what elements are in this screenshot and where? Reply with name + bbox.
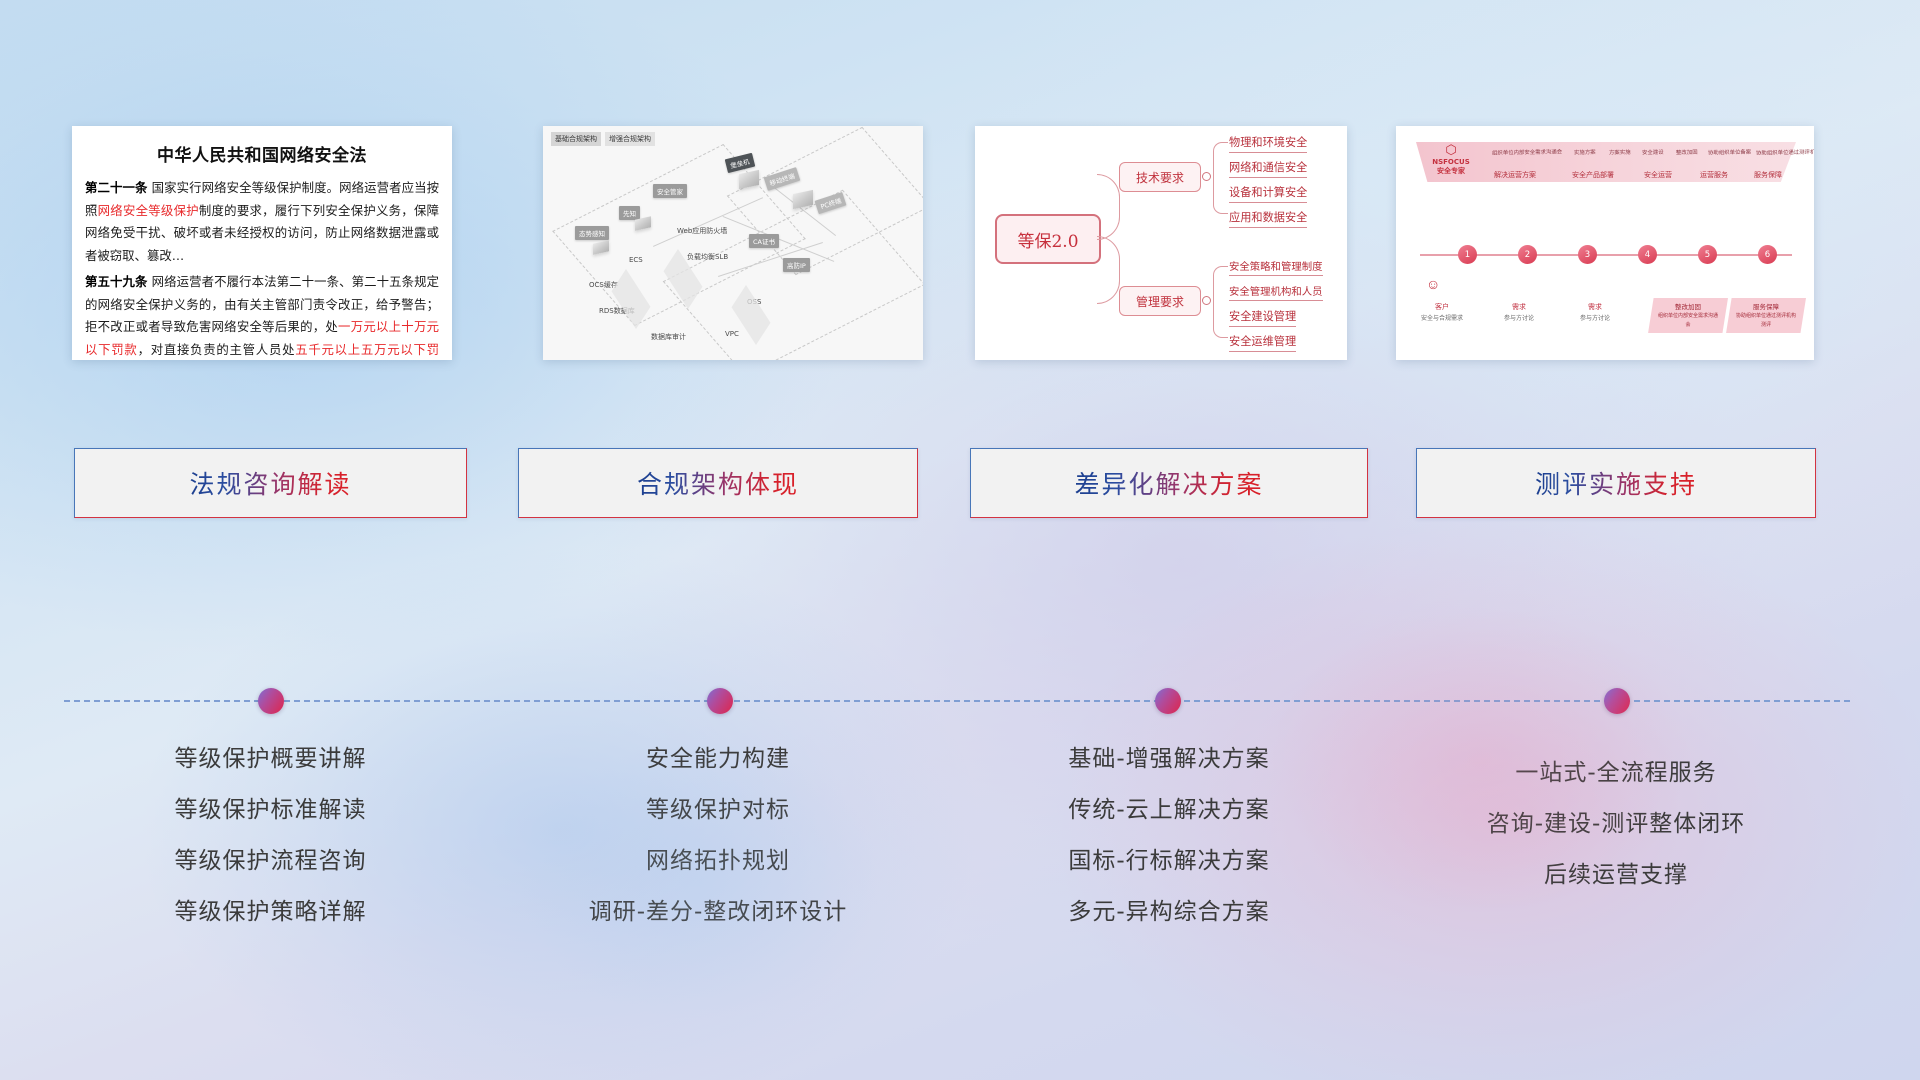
nsfocus-foot-discussion-sub: 参与方讨论 [1580, 315, 1610, 322]
card-dengbao-mindmap: 等保2.0 技术要求 管理要求 物理和环境安全 网络和通信安全 设备和计算安全 … [975, 126, 1347, 360]
law-article-21-label: 第二十一条 [85, 180, 148, 195]
nsfocus-step-3: 3 [1578, 245, 1597, 264]
nsfocus-chip-service: 服务保障 协助组织单位通过测评机构测评 [1726, 298, 1806, 333]
nsfocus-subcell-4: 运营服务 [1700, 170, 1728, 180]
mindmap-branch-management: 管理要求 [1119, 286, 1201, 316]
mindmap-leaf-org-personnel: 安全管理机构和人员 [1229, 283, 1323, 301]
nsfocus-chip-rectification-note: 组织单位内部安全需求沟通会 [1658, 313, 1718, 328]
nsfocus-topcell-3: 方案实施 [1609, 148, 1631, 156]
nsfocus-foot-demand: 需求 参与方讨论 [1482, 302, 1556, 322]
nsfocus-step-5: 5 [1698, 245, 1717, 264]
person-icon: ☺ [1426, 276, 1440, 292]
nsfocus-subcell-1: 解决运营方案 [1494, 170, 1536, 180]
timeline-dot-4 [1604, 688, 1630, 714]
law-title: 中华人民共和国网络安全法 [72, 141, 452, 166]
architecture-tab-basic: 基础合规架构 [551, 132, 601, 146]
nsfocus-brand-name: NSFOCUS [1432, 158, 1470, 166]
architecture-node-situational-awareness: 态势感知 [575, 226, 609, 240]
category-title-box-3[interactable]: 差异化解决方案 [970, 448, 1368, 518]
card-compliance-architecture: 基础合规架构 增强合规架构 堡垒机 安全管家 先知 态势感知 移动终端 PC终端… [543, 126, 923, 360]
architecture-node-waf: Web应用防火墙 [673, 224, 731, 238]
timeline-dot-1 [258, 688, 284, 714]
category-title-4: 测评实施支持 [1535, 465, 1697, 501]
service-list-2: 安全能力构建 等级保护对标 网络拓扑规划 调研-差分-整改闭环设计 [518, 748, 918, 952]
nsfocus-logo: ⬡ NSFOCUS 安全专家 [1422, 144, 1480, 176]
mindmap-stem-mgmt [1097, 236, 1120, 304]
nsfocus-subcell-5: 服务保障 [1754, 170, 1782, 180]
service-list-3: 基础-增强解决方案 传统-云上解决方案 国标-行标解决方案 多元-异构综合方案 [970, 748, 1368, 952]
reference-cards-row: 中华人民共和国网络安全法 第二十一条 国家实行网络安全等级保护制度。网络运营者应… [0, 126, 1920, 360]
category-title-2: 合规架构体现 [637, 465, 799, 501]
nsfocus-foot-discussion: 需求 参与方讨论 [1558, 302, 1632, 322]
nsfocus-foot-demand-head: 需求 [1482, 302, 1556, 312]
list-item: 咨询-建设-测评整体闭环 [1416, 813, 1816, 836]
category-title-1: 法规咨询解读 [189, 465, 351, 501]
mindmap-leaf-construction-mgmt: 安全建设管理 [1229, 308, 1296, 327]
mindmap-leaf-network-communication: 网络和通信安全 [1229, 159, 1307, 178]
law-article-59-label: 第五十九条 [85, 274, 148, 289]
architecture-tabs: 基础合规架构 增强合规架构 [551, 132, 655, 146]
mindmap-connector-management [1213, 266, 1228, 338]
nsfocus-chip-rectification: 整改加固 组织单位内部安全需求沟通会 [1648, 298, 1728, 333]
list-item: 安全能力构建 [518, 748, 918, 771]
category-title-3: 差异化解决方案 [1074, 465, 1263, 501]
architecture-node-vpc: VPC [721, 328, 743, 340]
nsfocus-topcell-5: 整改加固 [1676, 148, 1698, 156]
timeline-dashed-line [64, 700, 1850, 702]
architecture-node-slb: 负载均衡SLB [683, 250, 732, 264]
nsfocus-foot-demand-sub: 参与方讨论 [1504, 315, 1534, 322]
list-item: 后续运营支撑 [1416, 864, 1816, 887]
mindmap-branch-technical: 技术要求 [1119, 162, 1201, 192]
nsfocus-foot-client-sub: 安全与合规需求 [1421, 315, 1463, 322]
nsfocus-step-1: 1 [1458, 245, 1477, 264]
list-item: 等级保护对标 [518, 799, 918, 822]
category-title-box-1[interactable]: 法规咨询解读 [74, 448, 467, 518]
service-list-4: 一站式-全流程服务 咨询-建设-测评整体闭环 后续运营支撑 [1416, 762, 1816, 915]
nsfocus-subcell-2: 安全产品部署 [1572, 170, 1614, 180]
list-item: 等级保护策略详解 [74, 901, 467, 924]
nsfocus-chip-service-note: 协助组织单位通过测评机构测评 [1736, 313, 1796, 328]
architecture-node-security-butler: 安全管家 [653, 184, 687, 198]
nsfocus-brand-role: 安全专家 [1437, 167, 1465, 175]
mindmap-leaf-operations-mgmt: 安全运维管理 [1229, 333, 1296, 352]
nsfocus-subcell-3: 安全运营 [1644, 170, 1672, 180]
nsfocus-foot-client-head: 客户 [1412, 302, 1472, 312]
list-item: 传统-云上解决方案 [970, 799, 1368, 822]
nsfocus-topcell-4: 安全建设 [1642, 148, 1664, 156]
list-item: 网络拓扑规划 [518, 850, 918, 873]
nsfocus-topcell-7: 协助组织单位通过测评机构测评 [1756, 147, 1814, 156]
list-item: 调研-差分-整改闭环设计 [518, 901, 918, 924]
nsfocus-step-2: 2 [1518, 245, 1537, 264]
architecture-node-ca-certificate: CA证书 [749, 234, 779, 248]
category-title-box-2[interactable]: 合规架构体现 [518, 448, 918, 518]
nsfocus-chip-rectification-label: 整改加固 [1675, 303, 1701, 311]
nsfocus-chip-service-label: 服务保障 [1753, 303, 1779, 311]
architecture-diagram: 基础合规架构 增强合规架构 堡垒机 安全管家 先知 态势感知 移动终端 PC终端… [543, 126, 923, 360]
mindmap: 等保2.0 技术要求 管理要求 物理和环境安全 网络和通信安全 设备和计算安全 … [975, 126, 1347, 360]
law-article-21-highlight: 网络安全等级保护 [98, 203, 199, 218]
mindmap-stem-tech [1097, 174, 1120, 240]
mindmap-root: 等保2.0 [995, 214, 1101, 264]
nsfocus-step-6: 6 [1758, 245, 1777, 264]
list-item: 一站式-全流程服务 [1416, 762, 1816, 785]
nsfocus-topcell-2: 实施方案 [1574, 148, 1596, 156]
category-title-box-4[interactable]: 测评实施支持 [1416, 448, 1816, 518]
service-list-1: 等级保护概要讲解 等级保护标准解读 等级保护流程咨询 等级保护策略详解 [74, 748, 467, 952]
mindmap-leaf-physical-environment: 物理和环境安全 [1229, 134, 1307, 153]
law-body: 第二十一条 国家实行网络安全等级保护制度。网络运营者应当按照网络安全等级保护制度… [72, 177, 452, 360]
architecture-node-xianzhi: 先知 [619, 206, 640, 220]
mindmap-leaf-policy-system: 安全策略和管理制度 [1229, 258, 1323, 276]
mindmap-toggle-technical[interactable] [1202, 172, 1211, 181]
nsfocus-foot-discussion-head: 需求 [1558, 302, 1632, 312]
mindmap-leaf-device-computing: 设备和计算安全 [1229, 184, 1307, 203]
timeline-dot-2 [707, 688, 733, 714]
card-nsfocus-service-timeline: ⬡ NSFOCUS 安全专家 组织单位内部安全需求沟通会 实施方案 方案实施 安… [1396, 126, 1814, 360]
mindmap-connector-technical [1213, 142, 1228, 214]
list-item: 等级保护流程咨询 [74, 850, 467, 873]
mindmap-leaf-application-data: 应用和数据安全 [1229, 209, 1307, 228]
nsfocus-step-4: 4 [1638, 245, 1657, 264]
list-item: 多元-异构综合方案 [970, 901, 1368, 924]
architecture-node-db-audit: 数据库审计 [647, 330, 690, 344]
nsfocus-topcell-1: 组织单位内部安全需求沟通会 [1492, 147, 1562, 156]
list-item: 国标-行标解决方案 [970, 850, 1368, 873]
nsfocus-topcell-6: 协助组织单位备案 [1708, 148, 1751, 157]
list-item: 等级保护标准解读 [74, 799, 467, 822]
list-item: 基础-增强解决方案 [970, 748, 1368, 771]
nsfocus-foot-client: 客户 安全与合规需求 [1412, 302, 1472, 322]
architecture-tab-enhanced: 增强合规架构 [605, 132, 655, 146]
card-cybersecurity-law: 中华人民共和国网络安全法 第二十一条 国家实行网络安全等级保护制度。网络运营者应… [72, 126, 452, 360]
nsfocus-diagram: ⬡ NSFOCUS 安全专家 组织单位内部安全需求沟通会 实施方案 方案实施 安… [1396, 126, 1814, 360]
architecture-node-anti-ddos: 高防IP [783, 258, 810, 272]
architecture-node-ecs: ECS [625, 254, 647, 266]
list-item: 等级保护概要讲解 [74, 748, 467, 771]
mindmap-toggle-management[interactable] [1202, 296, 1211, 305]
infographic-canvas: 中华人民共和国网络安全法 第二十一条 国家实行网络安全等级保护制度。网络运营者应… [0, 0, 1920, 1080]
timeline-dot-3 [1155, 688, 1181, 714]
law-article-59-mid: ，对直接负责的主管人员处 [138, 342, 296, 357]
hexagon-icon: ⬡ [1422, 144, 1480, 157]
